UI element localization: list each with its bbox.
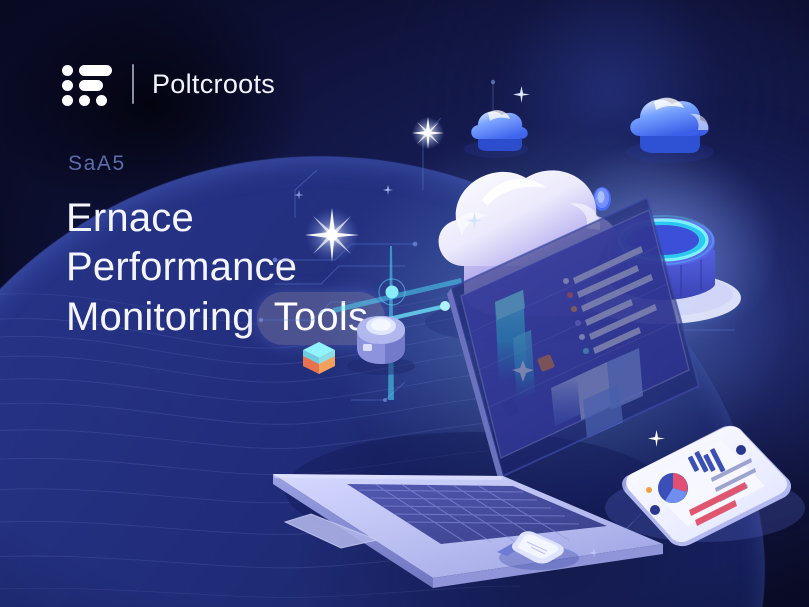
small-cloud-right	[626, 98, 714, 163]
headline-line-3: Monitoring	[66, 295, 255, 339]
poster-canvas: Poltcroots SaA5 Ernace Performance Monit…	[0, 0, 809, 607]
brand-divider	[132, 64, 134, 104]
isometric-cloud-monitoring-scene	[255, 70, 809, 607]
abstract-blocks-logo-icon	[62, 62, 112, 106]
small-cloud-left	[464, 110, 528, 158]
brand-lockup[interactable]: Poltcroots	[62, 62, 275, 106]
